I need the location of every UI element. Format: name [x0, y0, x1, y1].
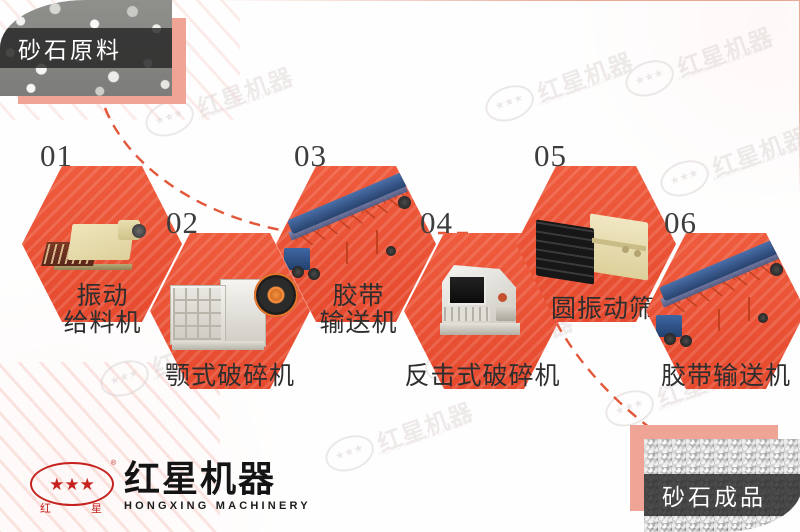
raw-material-caption-band: 砂石原料: [0, 28, 172, 68]
raw-material-caption: 砂石原料: [0, 31, 122, 65]
finished-product-caption-band: 砂石成品: [644, 474, 800, 516]
watermark: ★★★ 红星机器 HONGXING MACHINERY: [620, 17, 778, 103]
watermark: ★★★ 红星机器 HONGXING MACHINERY: [480, 42, 638, 128]
step-04-number: 04: [420, 205, 453, 241]
step-02-number: 02: [166, 205, 199, 241]
finished-product-image: 砂石成品: [644, 439, 800, 532]
watermark-seal-icon: ★★★: [655, 153, 714, 202]
watermark-stars: ★★★: [494, 93, 526, 113]
logo-brand-cn: 红星机器: [124, 462, 311, 498]
vibrating-feeder-icon: [44, 218, 154, 274]
watermark-subtext: HONGXING MACHINERY: [713, 142, 800, 183]
logo-wordmark: 红星机器 HONGXING MACHINERY: [124, 462, 311, 512]
watermark: ★★★ 红星机器 HONGXING MACHINERY: [655, 117, 800, 203]
logo-brand-en: HONGXING MACHINERY: [124, 500, 311, 512]
logo-seal-left: 红: [40, 500, 51, 516]
vibrating-screen-icon: [536, 216, 656, 288]
watermark-text: 红星机器: [192, 57, 298, 124]
raw-material-card: 砂石原料: [0, 0, 186, 104]
belt-conveyor-icon: [662, 269, 800, 361]
watermark-seal-icon: ★★★: [320, 428, 379, 477]
watermark-text: 红星机器: [372, 392, 478, 459]
watermark-stars: ★★★: [614, 398, 646, 418]
watermark-stars: ★★★: [334, 443, 366, 463]
step-01-number: 01: [40, 138, 73, 174]
watermark-stars: ★★★: [669, 168, 701, 188]
watermark-stars: ★★★: [154, 108, 186, 128]
step-02-label: 颚式破碎机: [125, 363, 335, 390]
brand-logo: ★★★ ® 红 星 红星机器 HONGXING MACHINERY: [30, 460, 311, 514]
watermark-subtext: HONGXING MACHINERY: [538, 67, 634, 108]
impact-crusher-icon: [434, 261, 534, 347]
step-04-label-line1: 反击式破碎机: [375, 363, 590, 390]
finished-product-caption: 砂石成品: [644, 478, 766, 512]
logo-seal-right: 星: [91, 500, 102, 516]
step-04-label: 反击式破碎机: [375, 363, 590, 390]
finished-product-card: 砂石成品: [630, 425, 800, 532]
watermark-subtext: HONGXING MACHINERY: [678, 42, 774, 83]
step-06-number: 06: [664, 205, 697, 241]
step-05-number: 05: [534, 138, 567, 174]
logo-registered-mark: ®: [111, 460, 116, 467]
logo-stars: ★★★: [49, 476, 95, 493]
watermark-subtext: HONGXING MACHINERY: [378, 417, 474, 458]
raw-material-image: 砂石原料: [0, 0, 172, 96]
step-02-label-line1: 颚式破碎机: [125, 363, 335, 390]
watermark-seal-icon: ★★★: [480, 78, 539, 127]
logo-seal-icon: ★★★ ® 红 星: [30, 460, 114, 514]
belt-conveyor-icon: [290, 202, 430, 294]
step-03-number: 03: [294, 138, 327, 174]
watermark-subtext: HONGXING MACHINERY: [198, 82, 294, 123]
logo-seal-subtext: 红 星: [32, 500, 110, 516]
jaw-crusher-icon: [168, 267, 300, 355]
watermark-text: 红星机器: [532, 42, 638, 109]
watermark: ★★★ 红星机器 HONGXING MACHINERY: [320, 392, 478, 478]
step-06-label: 胶带输送机: [638, 363, 800, 390]
watermark-text: 红星机器: [672, 17, 778, 84]
watermark-text: 红星机器: [707, 117, 800, 184]
flowchart-canvas: ★★★ 红星机器 HONGXING MACHINERY ★★★ 红星机器 HON…: [0, 0, 800, 532]
step-06-label-line1: 胶带输送机: [638, 363, 800, 390]
decor-frame-top-right: [584, 0, 800, 106]
watermark-stars: ★★★: [634, 68, 666, 88]
watermark-seal-icon: ★★★: [620, 53, 679, 102]
